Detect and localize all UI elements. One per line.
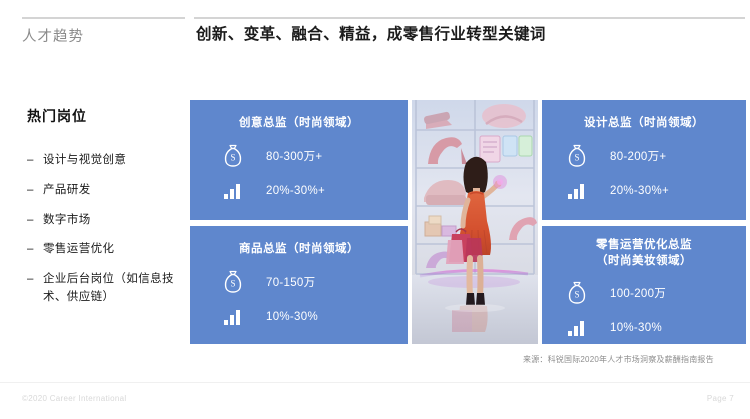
growth-value: 20%-30%+	[266, 185, 325, 197]
salary-value: 70-150万	[266, 274, 315, 290]
salary-value: 80-300万+	[266, 148, 322, 164]
growth-row: 10%-30%	[220, 308, 408, 326]
growth-row: 20%-30%+	[564, 182, 746, 200]
growth-row: 20%-30%+	[220, 182, 408, 200]
money-bag-icon: S	[220, 144, 246, 168]
svg-text:S: S	[574, 152, 579, 162]
hot-positions-list: – 设计与视觉创意 – 产品研发 – 数字市场 – 零售运营优化 – 企业后台岗…	[27, 152, 177, 307]
hot-positions-section: 热门岗位 – 设计与视觉创意 – 产品研发 – 数字市场 – 零售运营优化 – …	[27, 106, 177, 319]
role-card-stats: S 100-200万 10%-30%	[542, 281, 746, 351]
hot-positions-heading: 热门岗位	[27, 106, 177, 126]
roles-composite: 创意总监（时尚领域） S 80-300万+	[190, 100, 746, 344]
role-card-merchandise-director: 商品总监（时尚领域） S 70-150万	[190, 226, 408, 344]
list-item-label: 设计与视觉创意	[43, 152, 177, 170]
role-card-title: 创意总监（时尚领域）	[231, 116, 367, 132]
money-bag-icon: S	[220, 270, 246, 294]
bar-chart-icon	[564, 319, 590, 337]
role-card-stats: S 70-150万 10%-30%	[190, 270, 408, 340]
role-card-creative-director: 创意总监（时尚领域） S 80-300万+	[190, 100, 408, 220]
retail-shopper-photo	[412, 100, 538, 344]
growth-value: 10%-30%	[266, 311, 318, 323]
svg-text:S: S	[230, 278, 235, 288]
salary-row: S 80-200万+	[564, 144, 746, 168]
list-item-label: 零售运营优化	[43, 241, 177, 259]
dash-marker: –	[27, 152, 43, 170]
header-rule-left	[22, 17, 185, 19]
copyright-text: ©2020 Career International	[22, 394, 126, 403]
role-card-design-director: 设计总监（时尚领域） S 80-200万+	[542, 100, 746, 220]
dash-marker: –	[27, 241, 43, 259]
bar-chart-icon	[220, 308, 246, 326]
list-item: – 设计与视觉创意	[27, 152, 177, 170]
role-card-title: 设计总监（时尚领域）	[576, 116, 712, 132]
source-note: 来源：科锐国际2020年人才市场洞察及薪酬指南报告	[523, 354, 714, 365]
dash-marker: –	[27, 271, 43, 289]
salary-value: 100-200万	[610, 285, 666, 301]
slide-title: 创新、变革、融合、精益，成零售行业转型关键词	[196, 22, 546, 44]
footer-divider	[0, 382, 750, 383]
section-kicker: 人才趋势	[22, 25, 84, 46]
list-item-label: 产品研发	[43, 182, 177, 200]
growth-value: 10%-30%	[610, 322, 662, 334]
list-item-label: 企业后台岗位（如信息技术、供应链）	[43, 271, 177, 307]
dash-marker: –	[27, 182, 43, 200]
svg-text:S: S	[574, 290, 579, 300]
list-item: – 产品研发	[27, 182, 177, 200]
growth-row: 10%-30%	[564, 319, 746, 337]
role-card-title: 零售运营优化总监 （时尚美妆领域）	[588, 238, 700, 269]
role-card-retail-ops-director: 零售运营优化总监 （时尚美妆领域） S 100-200万	[542, 226, 746, 344]
list-item: – 数字市场	[27, 212, 177, 230]
role-card-stats: S 80-300万+ 20%-30%+	[190, 144, 408, 214]
role-card-title: 商品总监（时尚领域）	[231, 242, 367, 258]
page-number: Page 7	[707, 394, 734, 403]
list-item-label: 数字市场	[43, 212, 177, 230]
dash-marker: –	[27, 212, 43, 230]
svg-text:S: S	[230, 152, 235, 162]
list-item: – 企业后台岗位（如信息技术、供应链）	[27, 271, 177, 307]
salary-row: S 70-150万	[220, 270, 408, 294]
money-bag-icon: S	[564, 144, 590, 168]
salary-row: S 80-300万+	[220, 144, 408, 168]
list-item: – 零售运营优化	[27, 241, 177, 259]
bar-chart-icon	[564, 182, 590, 200]
salary-row: S 100-200万	[564, 281, 746, 305]
bar-chart-icon	[220, 182, 246, 200]
header-rule-right	[194, 17, 745, 19]
money-bag-icon: S	[564, 281, 590, 305]
growth-value: 20%-30%+	[610, 185, 669, 197]
salary-value: 80-200万+	[610, 148, 666, 164]
role-card-stats: S 80-200万+ 20%-30%+	[542, 144, 746, 214]
